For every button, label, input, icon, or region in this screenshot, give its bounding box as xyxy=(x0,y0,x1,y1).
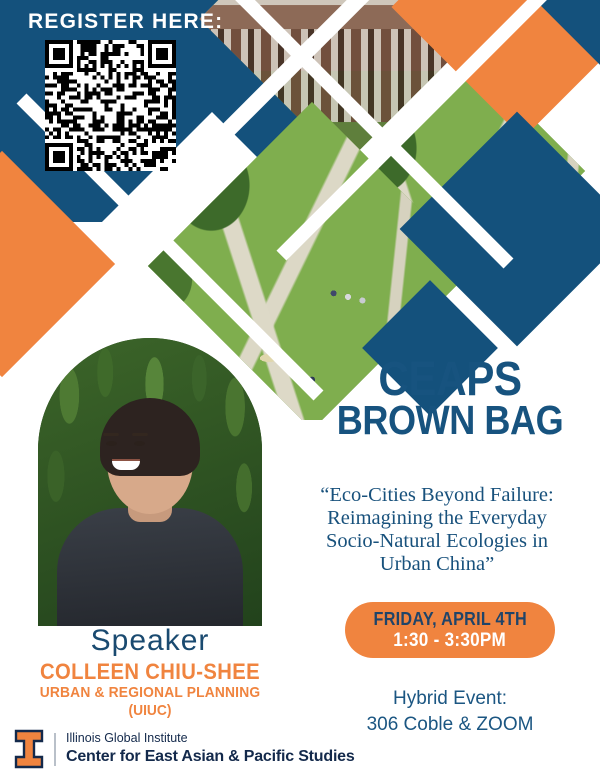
footer-text: Illinois Global Institute Center for Eas… xyxy=(66,731,355,767)
footer-org-name: Center for East Asian & Pacific Studies xyxy=(66,747,355,767)
portrait-body xyxy=(57,508,243,626)
speaker-heading: Speaker xyxy=(0,624,300,658)
footer-branding: Illinois Global Institute Center for Eas… xyxy=(14,729,355,769)
qr-code[interactable] xyxy=(45,40,176,171)
speaker-portrait xyxy=(38,338,262,626)
speaker-department: URBAN & REGIONAL PLANNING xyxy=(12,684,288,701)
footer-org-parent: Illinois Global Institute xyxy=(66,731,355,747)
portrait-eye-left xyxy=(106,441,117,446)
title-line-2: BROWN BAG xyxy=(318,402,582,440)
talk-title-line: Reimagining the Everyday xyxy=(282,507,592,530)
speaker-institution: (UIUC) xyxy=(12,702,288,719)
event-poster: REGISTER HERE: Speaker COLLEEN CHIU-SHEE… xyxy=(0,0,600,777)
portrait-brow-right xyxy=(132,433,148,436)
talk-title-line: Urban China” xyxy=(282,553,592,576)
footer-divider xyxy=(54,733,56,766)
illinois-block-i-icon xyxy=(14,729,44,769)
location-line-2: 306 Coble & ZOOM xyxy=(330,712,570,738)
talk-title: “Eco-Cities Beyond Failure: Reimagining … xyxy=(282,484,592,576)
portrait-brow-left xyxy=(103,433,119,436)
talk-title-line: Socio-Natural Ecologies in xyxy=(282,530,592,553)
event-date: FRIDAY, APRIL 4TH xyxy=(373,609,526,630)
event-location: Hybrid Event: 306 Coble & ZOOM xyxy=(330,686,570,737)
location-line-1: Hybrid Event: xyxy=(330,686,570,712)
speaker-name: COLLEEN CHIU-SHEE xyxy=(12,659,288,685)
date-time-badge: FRIDAY, APRIL 4TH 1:30 - 3:30PM xyxy=(345,602,555,658)
event-time: 1:30 - 3:30PM xyxy=(394,630,507,652)
talk-title-line: “Eco-Cities Beyond Failure: xyxy=(282,484,592,507)
page-title: CEAPS BROWN BAG xyxy=(318,358,582,440)
portrait-eye-right xyxy=(134,441,145,446)
register-here-label: REGISTER HERE: xyxy=(28,10,223,34)
